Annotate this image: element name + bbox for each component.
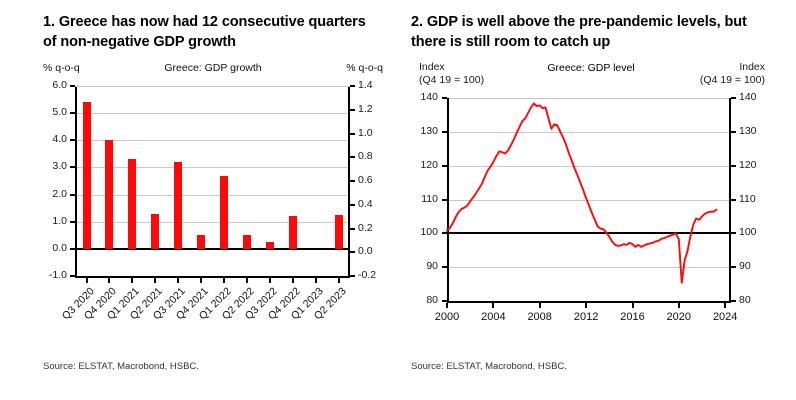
chart-2-x-tick-label: 2016	[611, 312, 655, 323]
gridline	[75, 222, 350, 223]
x-tick	[292, 278, 294, 283]
bar	[105, 140, 113, 249]
chart-2-y-tick-label-right: 120	[739, 160, 757, 170]
x-tick	[724, 303, 726, 308]
y-tick-right	[350, 85, 355, 87]
chart-2-y-tick-label: 120	[411, 160, 438, 170]
y-tick-right	[350, 228, 355, 230]
chart-2-x-tick-label: 2012	[564, 312, 608, 323]
chart-2-reference-line-100	[447, 232, 731, 234]
x-tick	[154, 278, 156, 283]
chart-2-y-tick-label-right: 80	[739, 295, 751, 305]
y-tick	[442, 131, 447, 133]
gridline	[447, 200, 731, 201]
chart-1-y-tick-label-right: 1.2	[358, 104, 373, 114]
chart-1-container: % q-o-q Greece: GDP growth % q-o-q 6.05.…	[43, 62, 383, 347]
panel-gdp-level: 2. GDP is well above the pre-pandemic le…	[398, 0, 796, 400]
chart-2-x-tick-label: 2004	[471, 312, 515, 323]
chart-2-source: Source: ELSTAT, Macrobond, HSBC.	[411, 361, 567, 372]
y-tick-right	[731, 131, 736, 133]
chart-1-plot-area: 6.05.04.03.02.01.00.0-1.01.41.21.00.80.6…	[43, 78, 383, 348]
chart-2-y-tick-label: 80	[411, 295, 438, 305]
chart-1-y-tick-label: 1.0	[43, 216, 67, 226]
chart-2-x-tick-label: 2000	[425, 312, 469, 323]
chart-1-title: Greece: GDP growth	[43, 62, 383, 74]
y-tick	[70, 221, 75, 223]
chart-1-y-tick-label: 6.0	[43, 80, 67, 90]
chart-2-y-tick-label: 90	[411, 261, 438, 271]
chart-1-y-tick-label-right: 0.8	[358, 151, 373, 161]
gridline	[447, 98, 731, 99]
chart-1-y-tick-label: 3.0	[43, 161, 67, 171]
chart-1-x-axis-line	[75, 276, 350, 278]
panel-2-title: 2. GDP is well above the pre-pandemic le…	[411, 12, 761, 52]
chart-1-right-axis-unit: % q-o-q	[346, 62, 383, 74]
y-tick	[70, 112, 75, 114]
y-tick	[70, 166, 75, 168]
y-tick-right	[350, 275, 355, 277]
chart-1-source: Source: ELSTAT, Macrobond, HSBC.	[43, 361, 199, 372]
bar	[220, 176, 228, 249]
chart-1-y-tick-label-right: 0.4	[358, 199, 373, 209]
chart-1-y-tick-label: 2.0	[43, 189, 67, 199]
chart-2-x-tick-label: 2008	[518, 312, 562, 323]
chart-2-y-tick-label-right: 140	[739, 92, 757, 102]
chart-2-y-tick-label: 140	[411, 92, 438, 102]
y-tick-right	[350, 156, 355, 158]
y-tick	[442, 300, 447, 302]
chart-1-y-tick-label: 5.0	[43, 107, 67, 117]
chart-1-y-tick-label: 0.0	[43, 243, 67, 253]
bar	[266, 242, 274, 249]
y-tick-right	[350, 133, 355, 135]
chart-2-y-tick-label-right: 130	[739, 126, 757, 136]
bar	[128, 159, 136, 249]
chart-2-left-axis-line	[447, 98, 449, 301]
gridline	[75, 140, 350, 141]
chart-1-y-tick-label: 4.0	[43, 134, 67, 144]
bar	[335, 215, 343, 249]
y-tick	[70, 139, 75, 141]
y-tick	[70, 248, 75, 250]
x-tick	[108, 278, 110, 283]
chart-2-right-axis-unit-line1: Index	[739, 62, 765, 72]
y-tick	[442, 266, 447, 268]
y-tick	[70, 85, 75, 87]
y-tick	[442, 165, 447, 167]
chart-2-title: Greece: GDP level	[411, 62, 771, 74]
chart-2-container: Index (Q4 19 = 100) Greece: GDP level In…	[411, 62, 771, 347]
chart-2-left-axis-unit-line2: (Q4 19 = 100)	[419, 75, 484, 85]
chart-2-x-tick-label: 2020	[657, 312, 701, 323]
chart-2-y-tick-label: 110	[411, 194, 438, 204]
chart-2-plot-area: 1401401301301201201101101001009090808020…	[411, 92, 771, 347]
x-tick	[200, 278, 202, 283]
x-tick	[86, 278, 88, 283]
chart-1-y-tick-label-right: 0.6	[358, 175, 373, 185]
y-tick	[70, 275, 75, 277]
x-tick	[678, 303, 680, 308]
y-tick-right	[350, 251, 355, 253]
chart-2-header: Index (Q4 19 = 100) Greece: GDP level In…	[411, 62, 771, 90]
chart-1-y-tick-label-right: 0.2	[358, 223, 373, 233]
x-tick	[177, 278, 179, 283]
y-tick-right	[731, 199, 736, 201]
y-tick-right	[731, 300, 736, 302]
x-tick	[539, 303, 541, 308]
chart-1-y-tick-label-right: 1.0	[358, 128, 373, 138]
x-tick	[632, 303, 634, 308]
x-tick	[492, 303, 494, 308]
gridline	[447, 166, 731, 167]
y-tick	[442, 199, 447, 201]
y-tick	[70, 194, 75, 196]
gridline	[75, 167, 350, 168]
y-tick-right	[350, 204, 355, 206]
bar	[197, 235, 205, 249]
chart-2-y-tick-label-right: 90	[739, 261, 751, 271]
chart-2-series-line	[411, 92, 771, 347]
x-tick	[223, 278, 225, 283]
gridline	[447, 132, 731, 133]
x-tick	[338, 278, 340, 283]
chart-1-y-tick-label: -1.0	[43, 270, 67, 280]
bar	[243, 235, 251, 249]
x-tick	[246, 278, 248, 283]
chart-1-header: % q-o-q Greece: GDP growth % q-o-q	[43, 62, 383, 76]
chart-2-y-tick-label-right: 100	[739, 227, 757, 237]
y-tick-right	[350, 109, 355, 111]
chart-2-y-tick-label: 130	[411, 126, 438, 136]
chart-2-y-tick-label: 100	[411, 227, 438, 237]
slide-root: 1. Greece has now had 12 consecutive qua…	[0, 0, 796, 400]
x-tick	[131, 278, 133, 283]
chart-1-y-tick-label-right: -0.2	[358, 270, 376, 280]
y-tick-right	[731, 266, 736, 268]
gridline	[75, 113, 350, 114]
y-tick-right	[731, 165, 736, 167]
y-tick-right	[731, 232, 736, 234]
gridline	[75, 195, 350, 196]
chart-2-right-axis-unit-line2: (Q4 19 = 100)	[700, 75, 765, 85]
bar	[289, 216, 297, 249]
bar	[83, 102, 91, 249]
gridline	[447, 267, 731, 268]
panel-gdp-growth: 1. Greece has now had 12 consecutive qua…	[0, 0, 398, 400]
panel-1-title: 1. Greece has now had 12 consecutive qua…	[43, 12, 383, 52]
x-tick	[315, 278, 317, 283]
y-tick	[442, 232, 447, 234]
chart-2-y-tick-label-right: 110	[739, 194, 756, 204]
y-tick	[442, 97, 447, 99]
x-tick	[446, 303, 448, 308]
bar	[151, 214, 159, 249]
y-tick-right	[350, 180, 355, 182]
chart-1-y-tick-label-right: 1.4	[358, 80, 373, 90]
x-tick	[269, 278, 271, 283]
chart-1-y-tick-label-right: 0.0	[358, 246, 373, 256]
chart-2-x-axis-line	[447, 301, 731, 303]
chart-2-x-tick-label: 2024	[703, 312, 747, 323]
chart-1-zero-line	[75, 248, 350, 250]
bar	[174, 162, 182, 249]
x-tick	[585, 303, 587, 308]
y-tick-right	[731, 97, 736, 99]
chart-1-top-frame	[75, 86, 350, 87]
